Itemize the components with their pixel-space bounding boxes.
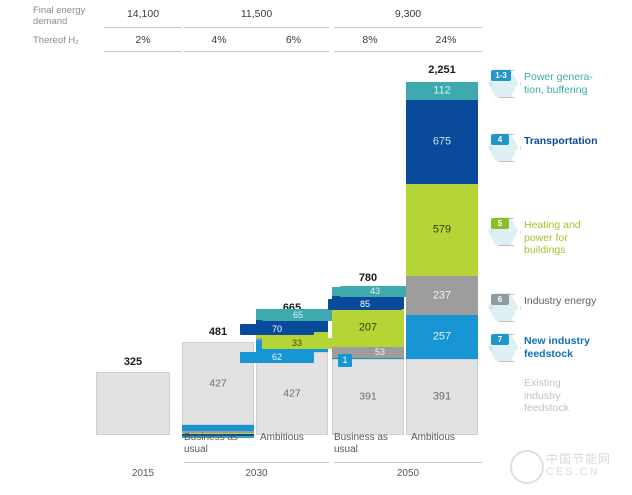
bar-2050-ambitious[interactable]: 2,251 391 257 237 579 675 112 — [406, 82, 478, 435]
legend-item-new-industry-feedstock[interactable]: 7 New industry feedstock — [488, 333, 632, 361]
segment-existing-industry-feedstock-2050-amb[interactable]: 391 — [406, 359, 478, 435]
year-label-2015: 2015 — [104, 468, 182, 479]
segment-label: 237 — [406, 290, 478, 301]
legend-label-transportation: Transportation — [524, 133, 598, 148]
bar-2030-ambitious[interactable]: 665 427 65 70 33 8 62 — [256, 320, 328, 435]
callout-band-transportation-2050-bau: 85 — [328, 299, 402, 310]
legend-label-existing-industry-feedstock: Existing industry feedstock — [524, 375, 569, 415]
legend-item-existing-industry-feedstock[interactable]: Existing industry feedstock — [524, 375, 632, 415]
segment-industry-energy-2050-amb[interactable]: 237 — [406, 276, 478, 315]
header-rule-2050-bottom — [334, 51, 482, 52]
segment-existing-industry-feedstock-2015[interactable] — [96, 372, 170, 435]
callout-value: 65 — [262, 310, 334, 321]
header-rule-2015-bottom — [104, 51, 182, 52]
segment-label: 207 — [332, 323, 404, 334]
year-label-2050: 2050 — [334, 468, 482, 479]
watermark-english-text: CES.CN — [546, 466, 600, 478]
callout-value: 43 — [340, 286, 410, 297]
header-thereof-h2-label: Thereof H₂ — [33, 35, 105, 46]
hexagon-7-icon: 7 — [488, 333, 518, 361]
hexagon-number-text: 4 — [488, 134, 512, 146]
h2-value-2030-amb: 6% — [258, 34, 329, 46]
header-rule-2015-top — [104, 27, 182, 28]
legend-item-industry-energy[interactable]: 6 Industry energy — [488, 293, 632, 321]
h2-value-2050-bau: 8% — [334, 34, 406, 46]
callout-value: 33 — [262, 338, 332, 349]
scenario-label-2030-business-as-usual: Business as usual — [184, 432, 250, 456]
segment-label: 427 — [257, 388, 327, 399]
callout-value: 53 — [358, 347, 402, 358]
watermark: 中国节能网 CES.CN — [510, 448, 626, 488]
callout-band-new-industry-feedstock-2050-bau: 1 — [338, 354, 352, 367]
callout-band-industry-energy-2050-bau: 53 — [358, 347, 402, 358]
callout-band-new-industry-feedstock-2030-amb: 62 — [240, 352, 314, 363]
legend-item-power-generation-buffering[interactable]: 1-3 Power genera- tion, buffering — [488, 69, 632, 97]
header-row2-label-text: Thereof H₂ — [33, 35, 79, 46]
hexagon-1-3-icon: 1-3 — [488, 69, 518, 97]
legend: 1-3 Power genera- tion, buffering 4 Tran… — [488, 55, 632, 435]
segment-label: 391 — [333, 392, 403, 403]
segment-label: 675 — [406, 137, 478, 148]
legend-label-heating-power-buildings: Heating and power for buildings — [524, 217, 581, 257]
segment-label: 257 — [406, 332, 478, 343]
watermark-logo-icon — [510, 450, 544, 484]
callout-band-heating-2030-amb: 33 — [262, 338, 332, 349]
h2-value-2015: 2% — [104, 34, 182, 46]
legend-item-heating-power-buildings[interactable]: 5 Heating and power for buildings — [488, 217, 632, 257]
callout-value: 85 — [328, 299, 402, 310]
header-final-energy-demand-label: Final energy demand — [33, 5, 105, 27]
callout-value: 1 — [338, 354, 352, 367]
axis-rule-2050 — [334, 462, 482, 463]
hexagon-5-icon: 5 — [488, 217, 518, 245]
bar-total-2050-bau: 780 — [332, 272, 404, 284]
segment-label: 427 — [183, 378, 253, 389]
scenario-label-2050-business-as-usual: Business as usual — [334, 432, 400, 456]
axis-rule-2030 — [184, 462, 329, 463]
h2-value-2030-bau: 4% — [184, 34, 254, 46]
hexagon-number-text: 7 — [488, 334, 512, 346]
segment-existing-industry-feedstock-2050-bau[interactable]: 391 — [332, 359, 404, 435]
segment-label: 579 — [406, 225, 478, 236]
legend-label-new-industry-feedstock: New industry feedstock — [524, 333, 590, 360]
scenario-label-2050-ambitious: Ambitious — [411, 432, 479, 444]
bar-total-2050-ambitious: 2,251 — [406, 64, 478, 76]
header-row1-label-text: Final energy demand — [33, 5, 85, 27]
legend-item-transportation[interactable]: 4 Transportation — [488, 133, 632, 161]
legend-label-industry-energy: Industry energy — [524, 293, 596, 308]
hexagon-number-text: 1-3 — [488, 70, 514, 82]
bar-2050-business-as-usual[interactable]: 780 391 207 43 85 53 1 — [332, 290, 404, 435]
year-label-2030: 2030 — [184, 468, 329, 479]
callout-band-power-generation-2050-bau: 43 — [340, 286, 410, 297]
segment-label: 391 — [407, 392, 477, 403]
segment-heating-power-buildings-2050-bau[interactable]: 207 — [332, 309, 404, 347]
callout-value: 62 — [240, 352, 314, 363]
segment-existing-industry-feedstock-2030-amb[interactable]: 427 — [256, 352, 328, 435]
segment-power-generation-buffering-2050-amb[interactable]: 112 — [406, 82, 478, 100]
bar-2015[interactable]: 325 — [96, 372, 170, 435]
callout-band-transportation-2030-amb: 70 — [240, 324, 314, 335]
chart-root: Final energy demand Thereof H₂ 14,100 11… — [0, 0, 632, 495]
h2-value-2050-amb: 24% — [410, 34, 482, 46]
hexagon-4-icon: 4 — [488, 133, 518, 161]
watermark-chinese-text: 中国节能网 — [546, 450, 611, 467]
demand-value-2030: 11,500 — [184, 8, 329, 20]
callout-value: 70 — [240, 324, 314, 335]
header-rule-2030-bottom — [184, 51, 329, 52]
demand-value-2050: 9,300 — [334, 8, 482, 20]
callout-band-power-generation-2030-amb: 65 — [262, 310, 334, 321]
header-rule-2030-top — [184, 27, 329, 28]
segment-heating-power-buildings-2050-amb[interactable]: 579 — [406, 184, 478, 276]
segment-new-industry-feedstock-2050-amb[interactable]: 257 — [406, 315, 478, 359]
hexagon-number-text: 6 — [488, 294, 512, 306]
segment-transportation-2050-amb[interactable]: 675 — [406, 100, 478, 184]
segment-label: 112 — [406, 86, 478, 97]
scenario-label-2030-ambitious: Ambitious — [260, 432, 328, 444]
header-rule-2050-top — [334, 27, 482, 28]
hexagon-number-text: 5 — [488, 218, 512, 230]
bar-total-2015: 325 — [96, 356, 170, 368]
hexagon-6-icon: 6 — [488, 293, 518, 321]
demand-value-2015: 14,100 — [104, 8, 182, 20]
legend-label-power-generation-buffering: Power genera- tion, buffering — [524, 69, 593, 96]
